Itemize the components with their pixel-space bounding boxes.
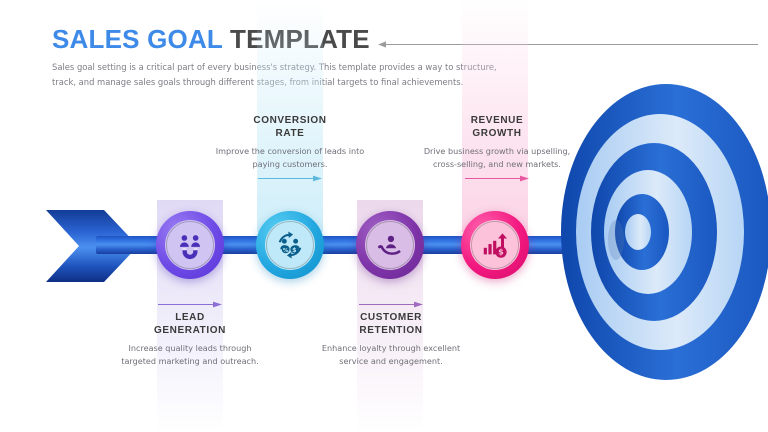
bullseye-target	[556, 82, 768, 382]
step-badge-inner: $	[470, 220, 520, 270]
badge-ring	[471, 221, 519, 269]
step-connector-arrow-conversion-rate	[215, 170, 365, 180]
step-badge-customer-retention[interactable]	[356, 211, 424, 279]
step-description: Increase quality leads through targeted …	[115, 342, 265, 367]
step-badge-lead-generation[interactable]	[156, 211, 224, 279]
header-arrow-rule	[378, 36, 758, 45]
step-heading: CUSTOMER RETENTION	[316, 311, 466, 337]
step-badge-revenue-growth[interactable]: $	[461, 211, 529, 279]
step-connector-arrow-revenue-growth	[422, 170, 572, 180]
step-badge-inner	[365, 220, 415, 270]
step-text-lead-generation: LEAD GENERATION Increase quality leads t…	[115, 296, 265, 367]
badge-ring	[166, 221, 214, 269]
step-heading: LEAD GENERATION	[115, 311, 265, 337]
step-description: Drive business growth via upselling, cro…	[422, 145, 572, 170]
step-text-customer-retention: CUSTOMER RETENTION Enhance loyalty throu…	[316, 296, 466, 367]
step-heading: CONVERSION RATE	[215, 114, 365, 140]
slide-canvas: SALES GOAL TEMPLATE Sales goal setting i…	[0, 0, 768, 432]
step-badge-inner	[165, 220, 215, 270]
badge-ring	[266, 221, 314, 269]
step-badge-inner: % $	[265, 220, 315, 270]
page-title-accent: SALES GOAL	[52, 24, 223, 54]
step-description: Enhance loyalty through excellent servic…	[316, 342, 466, 367]
step-heading: REVENUE GROWTH	[422, 114, 572, 140]
step-text-revenue-growth: REVENUE GROWTH Drive business growth via…	[422, 114, 572, 185]
step-connector-arrow-lead-generation	[115, 296, 265, 306]
step-text-conversion-rate: CONVERSION RATE Improve the conversion o…	[215, 114, 365, 185]
badge-ring	[366, 221, 414, 269]
step-badge-conversion-rate[interactable]: % $	[256, 211, 324, 279]
step-description: Improve the conversion of leads into pay…	[215, 145, 365, 170]
step-connector-arrow-customer-retention	[316, 296, 466, 306]
